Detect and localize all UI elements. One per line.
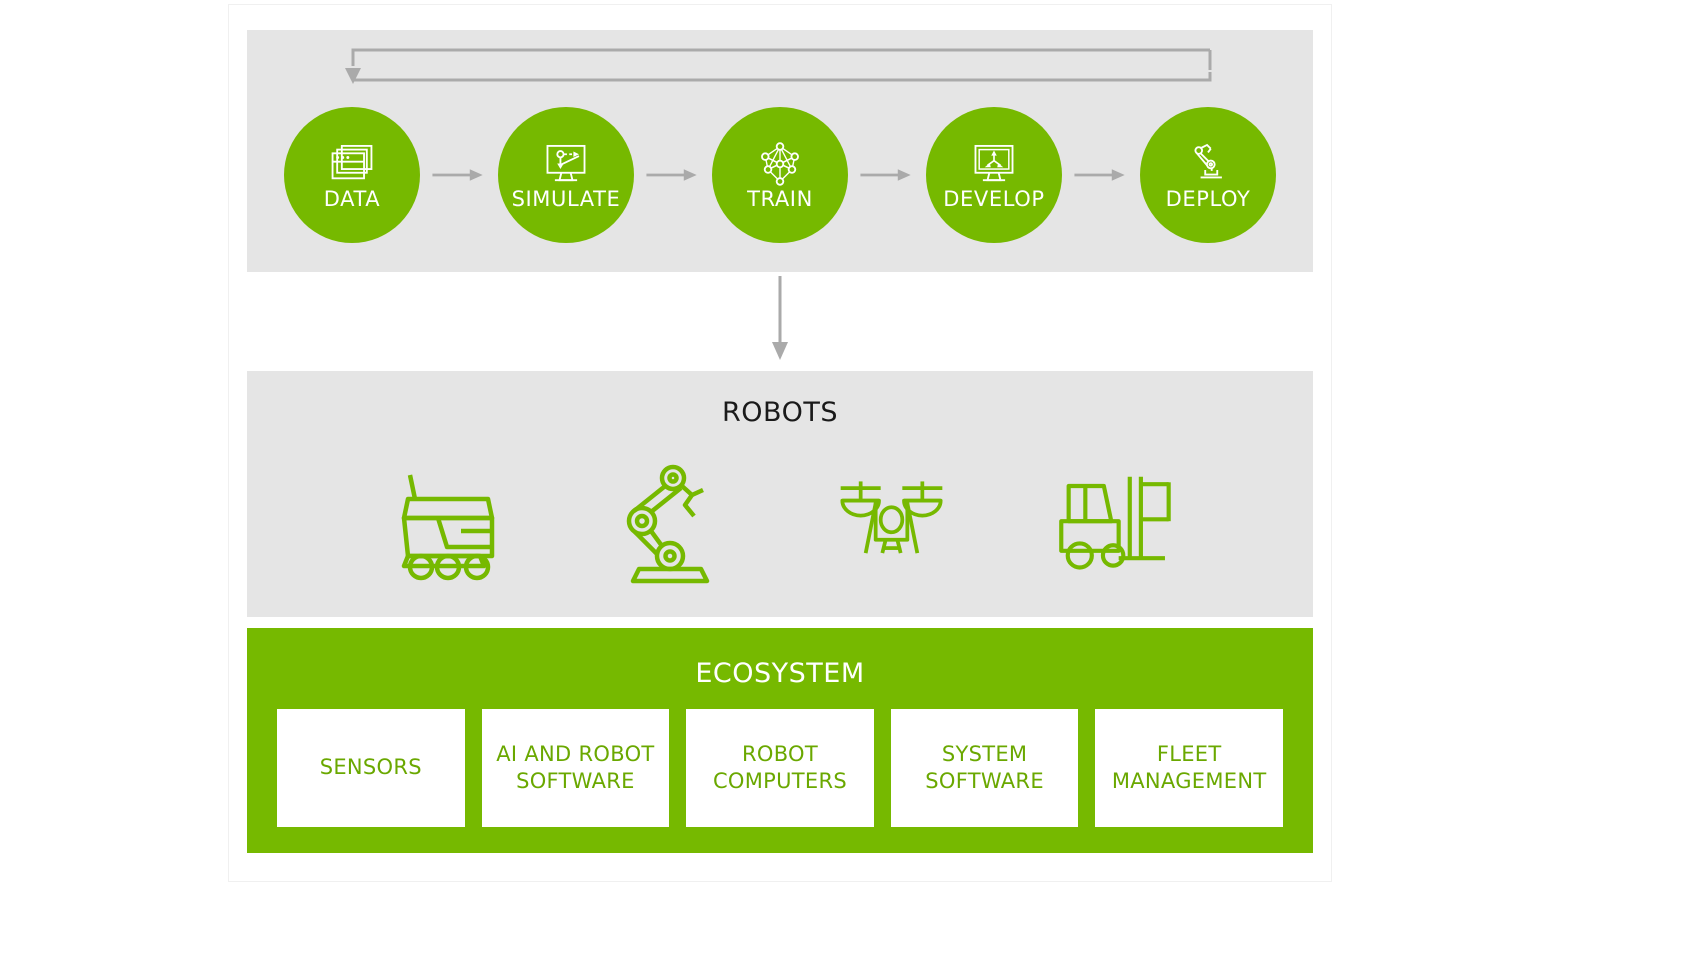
pipeline-stage-develop[interactable]: DEVELOP (926, 107, 1062, 243)
monitor-simulation-icon (539, 141, 593, 187)
pipeline-stage-data[interactable]: DATA (284, 107, 420, 243)
pipeline-stage-label: DATA (324, 189, 381, 210)
ecosystem-box-label: SYSTEM SOFTWARE (897, 741, 1073, 796)
pipeline-stage-deploy[interactable]: DEPLOY (1140, 107, 1276, 243)
ecosystem-box-sensors[interactable]: SENSORS (277, 709, 465, 827)
forklift-icon (1052, 461, 1177, 586)
pipeline-stage-label: TRAIN (747, 189, 813, 210)
ecosystem-box-row: SENSORS AI AND ROBOT SOFTWARE ROBOT COMP… (277, 709, 1283, 827)
ecosystem-title: ECOSYSTEM (247, 658, 1313, 689)
pipeline-arrow-1 (420, 165, 498, 185)
windows-stack-icon (325, 141, 379, 187)
drone-icon (829, 461, 954, 586)
ecosystem-box-ai-and-robot-software[interactable]: AI AND ROBOT SOFTWARE (482, 709, 670, 827)
pipeline-stage-label: DEVELOP (943, 189, 1044, 210)
pipeline-stage-row: DATA (247, 100, 1313, 250)
diagram-canvas: DATA (0, 0, 1700, 956)
ecosystem-box-label: ROBOT COMPUTERS (692, 741, 868, 796)
pipeline-arrow-4 (1062, 165, 1140, 185)
pipeline-to-robots-arrow (760, 276, 800, 362)
robot-arm-icon (606, 461, 731, 586)
pipeline-arrow-3 (848, 165, 926, 185)
pipeline-stage-label: DEPLOY (1166, 189, 1251, 210)
ecosystem-box-robot-computers[interactable]: ROBOT COMPUTERS (686, 709, 874, 827)
ecosystem-box-label: SENSORS (320, 754, 422, 781)
ecosystem-band: ECOSYSTEM SENSORS AI AND ROBOT SOFTWARE … (247, 628, 1313, 853)
robot-arm-icon (1181, 141, 1235, 187)
pipeline-stage-label: SIMULATE (512, 189, 621, 210)
ecosystem-box-label: FLEET MANAGEMENT (1101, 741, 1277, 796)
robots-icon-row (247, 453, 1313, 593)
pipeline-band: DATA (247, 30, 1313, 272)
pipeline-arrow-2 (634, 165, 712, 185)
robots-band: ROBOTS (247, 371, 1313, 617)
pipeline-stage-train[interactable]: TRAIN (712, 107, 848, 243)
ecosystem-box-fleet-management[interactable]: FLEET MANAGEMENT (1095, 709, 1283, 827)
monitor-branch-icon (967, 141, 1021, 187)
robots-title: ROBOTS (247, 397, 1313, 428)
pipeline-stage-simulate[interactable]: SIMULATE (498, 107, 634, 243)
ecosystem-box-system-software[interactable]: SYSTEM SOFTWARE (891, 709, 1079, 827)
ecosystem-box-label: AI AND ROBOT SOFTWARE (488, 741, 664, 796)
autonomous-mobile-robot-icon (383, 461, 508, 586)
neural-network-icon (753, 141, 807, 187)
